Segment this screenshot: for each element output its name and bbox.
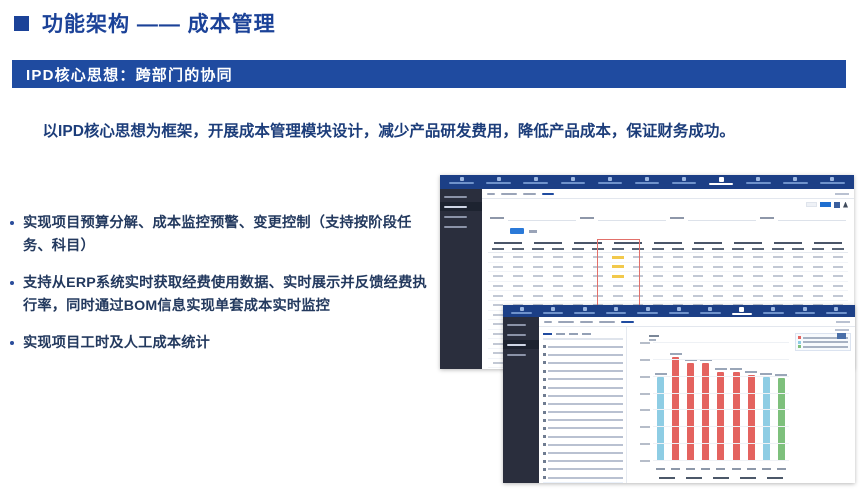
column-header[interactable] — [768, 248, 788, 250]
tab-item[interactable] — [558, 321, 574, 323]
filter-label — [580, 217, 594, 219]
tab-item-selected[interactable] — [621, 321, 634, 323]
list-item[interactable] — [543, 359, 623, 366]
x-axis-group-label — [659, 477, 675, 479]
table-cell — [588, 256, 608, 258]
table-cell — [708, 266, 728, 268]
list-item[interactable] — [543, 392, 623, 399]
list-item[interactable] — [543, 343, 623, 350]
bullet-dot-icon — [10, 221, 14, 225]
nav-item-icon — [534, 177, 538, 181]
list-item[interactable] — [543, 449, 623, 456]
list-item[interactable] — [543, 458, 623, 465]
table-cell — [768, 256, 788, 258]
table-cell — [528, 266, 548, 268]
reset-link[interactable] — [529, 230, 537, 233]
nav-item-icon — [645, 177, 649, 181]
table-cell — [588, 275, 608, 277]
table-cell — [528, 256, 548, 258]
nav-item-icon — [571, 177, 575, 181]
app-sidebar[interactable] — [440, 189, 482, 369]
nav-item[interactable] — [507, 307, 536, 314]
nav-item-label — [598, 182, 623, 184]
x-axis-tick-label — [671, 468, 680, 470]
sidebar-item-label — [444, 216, 467, 218]
tab-item[interactable] — [501, 193, 517, 195]
tree-node-icon — [543, 378, 546, 381]
x-axis-group-labels — [653, 476, 789, 480]
sidebar-item[interactable] — [503, 320, 539, 329]
nav-item-label — [543, 312, 564, 314]
list-item[interactable] — [543, 384, 623, 391]
nav-item-icon — [646, 307, 650, 311]
bar[interactable] — [657, 377, 664, 461]
tab-item[interactable] — [580, 321, 593, 323]
list-item-label — [548, 436, 623, 438]
table-row[interactable] — [488, 253, 848, 263]
bar[interactable] — [763, 377, 770, 461]
sidebar-item[interactable] — [440, 192, 482, 201]
nav-item-label — [637, 312, 658, 314]
sidebar-item[interactable] — [440, 222, 482, 231]
table-cell — [828, 275, 848, 277]
grid-line — [653, 342, 789, 343]
filter-input[interactable] — [508, 215, 576, 221]
tree-tab-item-selected[interactable] — [543, 333, 552, 335]
sidebar-item[interactable] — [440, 212, 482, 221]
column-header[interactable] — [568, 248, 588, 250]
tree-tab-item[interactable] — [556, 333, 565, 335]
bar-chart — [627, 327, 855, 483]
nav-item[interactable] — [518, 177, 553, 184]
nav-item-icon — [583, 307, 587, 311]
table-cell — [488, 275, 508, 277]
column-header[interactable] — [508, 248, 528, 250]
table-cell — [748, 266, 768, 268]
column-header[interactable] — [788, 248, 808, 250]
nav-item[interactable] — [601, 307, 630, 314]
bar[interactable] — [687, 363, 694, 461]
table-cell — [748, 275, 768, 277]
nav-item-label — [449, 182, 474, 184]
sidebar-item-label — [507, 344, 526, 346]
x-axis-tick-labels — [653, 468, 789, 472]
table-cell — [688, 266, 708, 268]
table-row[interactable] — [488, 282, 848, 292]
nav-item[interactable] — [759, 307, 788, 314]
nav-item[interactable] — [570, 307, 599, 314]
table-cell — [608, 275, 628, 278]
y-axis-tick-label — [640, 376, 650, 378]
nav-item[interactable] — [444, 177, 479, 184]
x-axis-tick-label — [686, 468, 695, 470]
app-sidebar[interactable] — [503, 317, 539, 483]
table-cell — [768, 295, 788, 297]
nav-item[interactable] — [481, 177, 516, 184]
column-header[interactable] — [548, 248, 568, 250]
tree-panel-tabs[interactable] — [543, 333, 623, 335]
table-cell — [528, 295, 548, 297]
legend-label — [803, 341, 848, 343]
list-item-label — [548, 460, 623, 462]
tab-bar[interactable] — [482, 189, 854, 199]
table-cell — [568, 256, 588, 258]
nav-item-icon — [460, 177, 464, 181]
column-group-label — [808, 242, 848, 244]
tab-item[interactable] — [487, 193, 495, 195]
filter-label — [490, 217, 504, 219]
screenshot-cost-chart — [503, 305, 855, 483]
list-item-label — [548, 403, 623, 405]
table-cell — [548, 256, 568, 258]
table-cell — [568, 285, 588, 287]
table-cell — [608, 256, 628, 259]
table-cell — [488, 266, 508, 268]
bar-value-label — [670, 353, 682, 355]
table-toolbar[interactable] — [482, 199, 854, 210]
grid-line — [653, 443, 789, 444]
nav-item[interactable] — [696, 307, 725, 314]
tab-item[interactable] — [523, 193, 536, 195]
list-item[interactable] — [543, 433, 623, 440]
table-cell — [708, 285, 728, 287]
table-cell — [828, 266, 848, 268]
column-header[interactable] — [648, 248, 668, 250]
table-cell — [728, 285, 748, 287]
table-cell — [788, 295, 808, 297]
y-axis-title — [649, 335, 659, 337]
y-axis-tick-label — [640, 426, 650, 428]
table-cell — [748, 285, 768, 287]
bar[interactable] — [733, 372, 740, 461]
filter-input[interactable] — [688, 215, 756, 221]
legend-swatch — [798, 345, 801, 348]
table-cell — [648, 256, 668, 258]
y-axis-tick-label — [640, 443, 650, 445]
nav-item[interactable] — [815, 177, 850, 184]
nav-item-label — [561, 182, 586, 184]
table-cell — [508, 256, 528, 258]
tab-item[interactable] — [544, 321, 552, 323]
export-icon[interactable] — [843, 202, 848, 208]
table-cell — [628, 295, 648, 297]
column-header[interactable] — [728, 248, 748, 250]
column-header[interactable] — [828, 248, 848, 250]
table-cell — [508, 285, 528, 287]
list-item-label — [548, 419, 623, 421]
x-axis-group-label — [740, 477, 756, 479]
list-item: 实现项目预算分解、成本监控预警、变更控制（支持按阶段任务、科目） — [10, 212, 430, 258]
table-cell — [708, 275, 728, 277]
nav-item-icon — [834, 307, 838, 311]
column-group-label — [688, 242, 728, 244]
tab-bar[interactable] — [539, 317, 855, 327]
filter-input[interactable] — [598, 215, 666, 221]
table-cell — [648, 295, 668, 297]
table-cell — [608, 285, 628, 287]
table-header-row — [488, 246, 848, 253]
tree-node-icon — [543, 386, 546, 389]
nav-item-label — [523, 182, 548, 184]
chart-type-toggle-icon[interactable] — [837, 333, 846, 339]
filter-row[interactable] — [482, 210, 854, 225]
legend-swatch — [798, 341, 801, 344]
table-cell — [568, 295, 588, 297]
column-group-label — [608, 242, 648, 244]
column-header[interactable] — [708, 248, 728, 250]
sidebar-item[interactable] — [503, 350, 539, 359]
legend-entry[interactable] — [798, 345, 848, 348]
tab-bar-right-text — [836, 321, 850, 323]
table-cell — [788, 256, 808, 258]
column-header[interactable] — [608, 248, 628, 250]
grid-line — [653, 409, 789, 410]
table-row[interactable] — [488, 272, 848, 282]
column-header[interactable] — [808, 248, 828, 250]
table-cell — [568, 275, 588, 277]
nav-item-label — [672, 182, 697, 184]
table-cell — [488, 295, 508, 297]
table-cell — [688, 256, 708, 258]
bar[interactable] — [702, 363, 709, 461]
list-item[interactable] — [543, 368, 623, 375]
table-cell — [768, 266, 788, 268]
filter-action-row[interactable] — [482, 225, 854, 237]
search-input[interactable] — [543, 338, 623, 340]
filter-input[interactable] — [778, 215, 846, 221]
legend-entry[interactable] — [798, 341, 848, 344]
x-axis-group-label — [686, 477, 702, 479]
nav-item-icon — [677, 307, 681, 311]
list-item-label — [548, 444, 623, 446]
table-cell — [668, 285, 688, 287]
app-content-pane — [539, 317, 855, 483]
list-item: 支持从ERP系统实时获取经费使用数据、实时展示并反馈经费执行率，同时通过BOM信… — [10, 272, 430, 318]
table-cell — [488, 285, 508, 287]
bullet-text: 支持从ERP系统实时获取经费使用数据、实时展示并反馈经费执行率，同时通过BOM信… — [23, 272, 430, 318]
table-cell — [548, 295, 568, 297]
table-row[interactable] — [488, 291, 848, 301]
y-axis-tick-label — [640, 342, 650, 344]
column-header[interactable] — [488, 248, 508, 250]
legend-label — [803, 346, 848, 348]
tree-node-icon — [543, 345, 546, 348]
table-row[interactable] — [488, 263, 848, 273]
nav-item[interactable] — [778, 177, 813, 184]
list-item-label — [548, 395, 623, 397]
tab-item[interactable] — [599, 321, 615, 323]
nav-item-label — [700, 312, 721, 314]
filter-label — [760, 217, 774, 219]
column-group-label — [488, 242, 528, 244]
x-axis-tick-label — [716, 468, 725, 470]
nav-item-icon — [756, 177, 760, 181]
table-cell — [508, 266, 528, 268]
nav-item-icon — [803, 307, 807, 311]
tree-node-icon — [543, 452, 546, 455]
page-title-text: 功能架构 —— 成本管理 — [42, 8, 276, 38]
bar[interactable] — [778, 378, 785, 461]
bullet-list: 实现项目预算分解、成本监控预警、变更控制（支持按阶段任务、科目） 支持从ERP系… — [10, 212, 430, 369]
y-axis-unit — [649, 339, 656, 341]
list-item[interactable] — [543, 441, 623, 448]
nav-item[interactable] — [538, 307, 567, 314]
sidebar-item-label — [444, 226, 467, 228]
list-item[interactable] — [543, 400, 623, 407]
table-cell — [648, 266, 668, 268]
bar-value-label — [730, 368, 742, 370]
nav-item-label — [826, 312, 847, 314]
tree-node-icon — [543, 435, 546, 438]
bar[interactable] — [717, 372, 724, 461]
bar-value-label — [715, 368, 727, 370]
table-cell — [608, 265, 628, 268]
nav-item[interactable] — [822, 307, 851, 314]
tree-node-icon — [543, 361, 546, 364]
list-item-label — [548, 378, 623, 380]
table-cell — [828, 295, 848, 297]
nav-item-icon — [739, 307, 744, 312]
bullet-text: 实现项目工时及人工成本统计 — [23, 332, 210, 355]
nav-item[interactable] — [741, 177, 776, 184]
list-item-label — [548, 427, 623, 429]
list-item[interactable] — [543, 409, 623, 416]
x-axis-tick-label — [777, 468, 786, 470]
sidebar-item-label — [507, 324, 526, 326]
table-cell — [628, 266, 648, 268]
table-cell — [588, 295, 608, 297]
nav-item[interactable] — [592, 177, 627, 184]
list-item-selected[interactable] — [543, 482, 623, 483]
reset-button[interactable] — [806, 202, 817, 207]
nav-item-active[interactable] — [727, 307, 756, 315]
column-group-label — [768, 242, 808, 244]
section-banner-text: IPD核心思想：跨部门的协同 — [12, 64, 233, 85]
y-axis-tick-label — [640, 393, 650, 395]
tree-node-icon — [543, 411, 546, 414]
table-cell — [748, 256, 768, 258]
column-header[interactable] — [688, 248, 708, 250]
x-axis-tick-label — [747, 468, 756, 470]
column-group-label — [528, 242, 568, 244]
nav-item-icon — [719, 177, 724, 182]
y-axis-tick-label — [640, 359, 650, 361]
sidebar-item-label — [507, 354, 526, 356]
grid-line — [653, 376, 789, 377]
nav-item[interactable] — [664, 307, 693, 314]
table-cell — [608, 295, 628, 297]
table-cell — [728, 275, 748, 277]
sidebar-item-active[interactable] — [503, 340, 539, 349]
tree-node-icon — [543, 460, 546, 463]
nav-item[interactable] — [790, 307, 819, 314]
app-top-navigation[interactable] — [440, 175, 854, 189]
tree-node-icon — [543, 402, 546, 405]
nav-item[interactable] — [629, 177, 664, 184]
table-cell — [748, 295, 768, 297]
nav-item-label — [783, 182, 808, 184]
section-banner: IPD核心思想：跨部门的协同 — [12, 60, 846, 88]
grid-line — [653, 460, 789, 461]
nav-item-icon — [520, 307, 524, 311]
tab-item-selected[interactable] — [542, 193, 554, 195]
nav-item-icon — [608, 177, 612, 181]
nav-item-icon — [830, 177, 834, 181]
column-header[interactable] — [528, 248, 548, 250]
tree-node-icon — [543, 353, 546, 356]
tree-node-icon — [543, 443, 546, 446]
sidebar-item-active[interactable] — [440, 202, 482, 211]
bar-value-label — [655, 373, 667, 375]
list-item[interactable] — [543, 466, 623, 473]
column-header[interactable] — [588, 248, 608, 250]
search-button[interactable] — [820, 202, 831, 207]
list-item-label — [548, 477, 623, 479]
table-cell — [768, 285, 788, 287]
list-item[interactable] — [543, 425, 623, 432]
nav-item-active[interactable] — [704, 177, 739, 185]
table-view-icon[interactable] — [834, 202, 840, 208]
sidebar-item-label — [507, 334, 526, 336]
column-header[interactable] — [628, 248, 648, 250]
list-item-label — [548, 452, 623, 454]
column-group-label — [568, 242, 608, 244]
nav-item-label — [486, 182, 511, 184]
page-title: 功能架构 —— 成本管理 — [14, 8, 276, 38]
column-group-label — [648, 242, 688, 244]
list-item[interactable] — [543, 417, 623, 424]
table-cell — [688, 295, 708, 297]
x-axis-group-label — [767, 477, 783, 479]
table-cell — [808, 275, 828, 277]
nav-item-icon — [682, 177, 686, 181]
tree-tab-item[interactable] — [569, 333, 578, 335]
table-cell — [708, 295, 728, 297]
table-cell — [788, 275, 808, 277]
column-header[interactable] — [668, 248, 688, 250]
list-item[interactable] — [543, 351, 623, 358]
bar[interactable] — [748, 375, 755, 461]
tree-tab-item[interactable] — [582, 333, 591, 335]
column-header[interactable] — [748, 248, 768, 250]
table-cell — [628, 256, 648, 258]
y-axis-tick-label — [640, 409, 650, 411]
table-cell — [548, 285, 568, 287]
table-cell — [528, 275, 548, 277]
list-item[interactable] — [543, 474, 623, 481]
nav-item-label — [763, 312, 784, 314]
table-cell — [768, 275, 788, 277]
nav-item[interactable] — [667, 177, 702, 184]
sidebar-item[interactable] — [503, 330, 539, 339]
app-top-navigation[interactable] — [503, 305, 855, 317]
nav-item[interactable] — [633, 307, 662, 314]
chart-legend[interactable] — [795, 333, 851, 351]
bullet-dot-icon — [10, 281, 14, 285]
nav-item-label — [511, 312, 532, 314]
query-button[interactable] — [510, 228, 524, 234]
tree-list-panel[interactable] — [539, 327, 627, 483]
nav-item[interactable] — [555, 177, 590, 184]
x-axis-tick-label — [762, 468, 771, 470]
table-cell — [548, 266, 568, 268]
list-item[interactable] — [543, 376, 623, 383]
nav-item-icon — [497, 177, 501, 181]
table-cell — [668, 295, 688, 297]
table-cell — [708, 256, 728, 258]
y-axis-tick-label — [640, 460, 650, 462]
table-cell — [808, 256, 828, 258]
